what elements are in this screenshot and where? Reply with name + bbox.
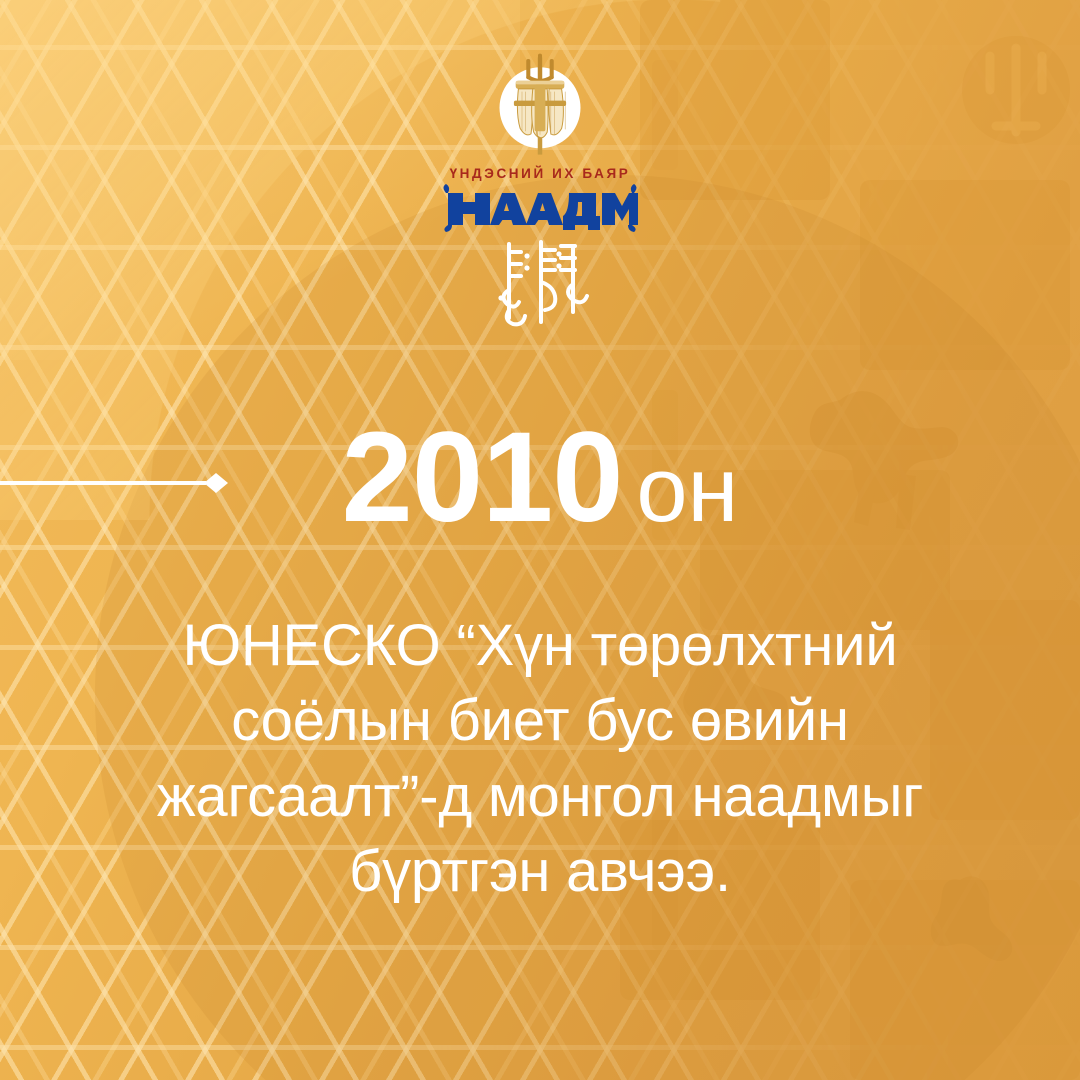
naadam-logo: ҮНДЭСНИЙ ИХ БАЯР bbox=[0, 52, 1080, 330]
logo-wordmark-naadam bbox=[442, 182, 638, 232]
year-suffix: он bbox=[636, 439, 738, 541]
body-line: ЮНЕСКО “Хүн төрөлхтний bbox=[95, 608, 985, 683]
nine-white-banners-icon bbox=[486, 52, 594, 160]
logo-tagline: ҮНДЭСНИЙ ИХ БАЯР bbox=[450, 166, 631, 181]
year-heading: 2010он bbox=[0, 414, 1080, 542]
body-paragraph: ЮНЕСКО “Хүн төрөлхтний соёлын биет бус ө… bbox=[95, 608, 985, 910]
traditional-mongolian-script-naadam bbox=[481, 238, 599, 330]
year-number: 2010 bbox=[342, 406, 623, 549]
body-line: соёлын биет бус өвийн bbox=[95, 683, 985, 758]
body-line: бүртгэн авчээ. bbox=[95, 834, 985, 909]
poster-canvas: ҮНДЭСНИЙ ИХ БАЯР bbox=[0, 0, 1080, 1080]
body-line: жагсаалт”-д монгол наадмыг bbox=[95, 759, 985, 834]
